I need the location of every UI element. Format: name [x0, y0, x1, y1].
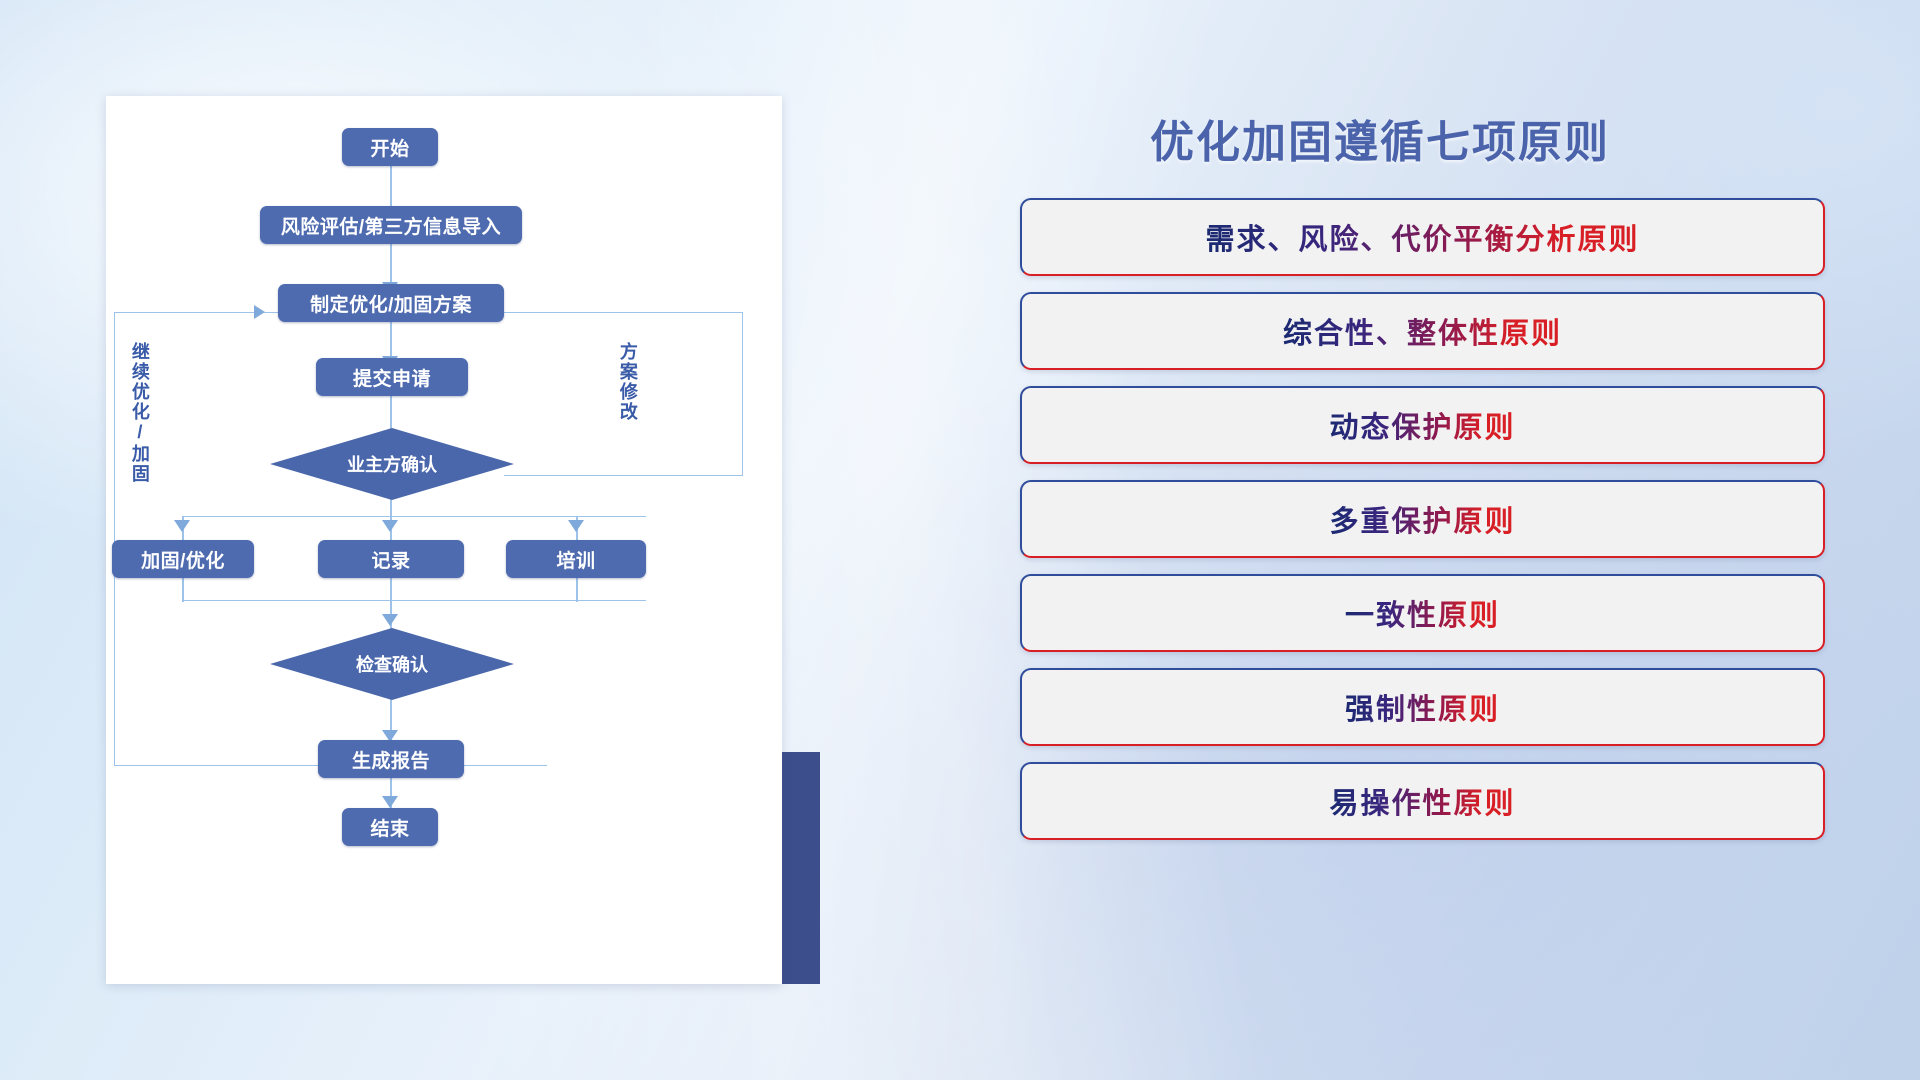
principle-card-2[interactable]: 综合性、整体性原则 — [1020, 292, 1825, 370]
flow-node-make-plan-label: 制定优化/加固方案 — [310, 290, 472, 317]
flow-node-risk-assessment-label: 风险评估/第三方信息导入 — [281, 212, 501, 239]
flowchart-card: 继续优化/加固 方案修改 开始 风险评估/第三方信息导入 制定优化/加固方案 提… — [106, 96, 782, 984]
flow-node-start[interactable]: 开始 — [342, 128, 438, 166]
flow-label-continue-optimize: 继续优化/加固 — [130, 342, 149, 512]
arrow-left-loop-into-plan — [254, 305, 265, 319]
principle-card-5[interactable]: 一致性原则 — [1020, 574, 1825, 652]
flow-node-start-label: 开始 — [370, 134, 409, 161]
flow-node-reinforce-optimize-label: 加固/优化 — [141, 546, 225, 573]
principle-card-1[interactable]: 需求、风险、代价平衡分析原则 — [1020, 198, 1825, 276]
arrow-record-to-check — [382, 614, 398, 626]
principle-label: 强制性原则 — [1345, 686, 1500, 728]
flow-node-generate-report-label: 生成报告 — [352, 746, 430, 773]
flow-node-training[interactable]: 培训 — [506, 540, 646, 578]
flow-node-record-label: 记录 — [371, 546, 410, 573]
arrow-branch-to-training — [568, 520, 584, 532]
flow-decision-owner-confirm[interactable]: 业主方确认 — [270, 428, 514, 500]
flow-node-reinforce-optimize[interactable]: 加固/优化 — [112, 540, 254, 578]
flow-node-submit-application-label: 提交申请 — [353, 364, 431, 391]
principle-label: 多重保护原则 — [1329, 498, 1515, 540]
flow-node-make-plan[interactable]: 制定优化/加固方案 — [278, 284, 504, 322]
principle-card-7[interactable]: 易操作性原则 — [1020, 762, 1825, 840]
principle-label: 动态保护原则 — [1329, 404, 1515, 446]
flow-node-risk-assessment[interactable]: 风险评估/第三方信息导入 — [260, 206, 522, 244]
principle-label: 需求、风险、代价平衡分析原则 — [1205, 216, 1639, 258]
principle-label: 一致性原则 — [1345, 592, 1500, 634]
principle-card-3[interactable]: 动态保护原则 — [1020, 386, 1825, 464]
flow-node-end[interactable]: 结束 — [342, 808, 438, 846]
principle-card-6[interactable]: 强制性原则 — [1020, 668, 1825, 746]
flow-node-end-label: 结束 — [370, 814, 409, 841]
arrow-branch-to-reinforce — [174, 520, 190, 532]
flow-decision-check-confirm[interactable]: 检查确认 — [270, 628, 514, 700]
flow-node-submit-application[interactable]: 提交申请 — [316, 358, 468, 396]
arrow-report-to-end — [382, 796, 398, 808]
page-title: 优化加固遵循七项原则 — [1150, 106, 1610, 170]
flowchart-canvas: 继续优化/加固 方案修改 开始 风险评估/第三方信息导入 制定优化/加固方案 提… — [106, 96, 782, 984]
flow-decision-check-confirm-label: 检查确认 — [356, 651, 428, 677]
principle-card-4[interactable]: 多重保护原则 — [1020, 480, 1825, 558]
flow-label-plan-revision: 方案修改 — [618, 342, 637, 472]
principle-label: 综合性、整体性原则 — [1283, 310, 1562, 352]
arrow-owner-to-record — [382, 520, 398, 532]
flow-node-training-label: 培训 — [556, 546, 595, 573]
principles-list: 需求、风险、代价平衡分析原则 综合性、整体性原则 动态保护原则 多重保护原则 一… — [1020, 198, 1825, 856]
flow-node-generate-report[interactable]: 生成报告 — [318, 740, 464, 778]
flow-decision-owner-confirm-label: 业主方确认 — [347, 451, 437, 477]
flow-node-record[interactable]: 记录 — [318, 540, 464, 578]
principles-pane: 优化加固遵循七项原则 需求、风险、代价平衡分析原则 综合性、整体性原则 动态保护… — [1020, 90, 1840, 1020]
principle-label: 易操作性原则 — [1329, 780, 1515, 822]
